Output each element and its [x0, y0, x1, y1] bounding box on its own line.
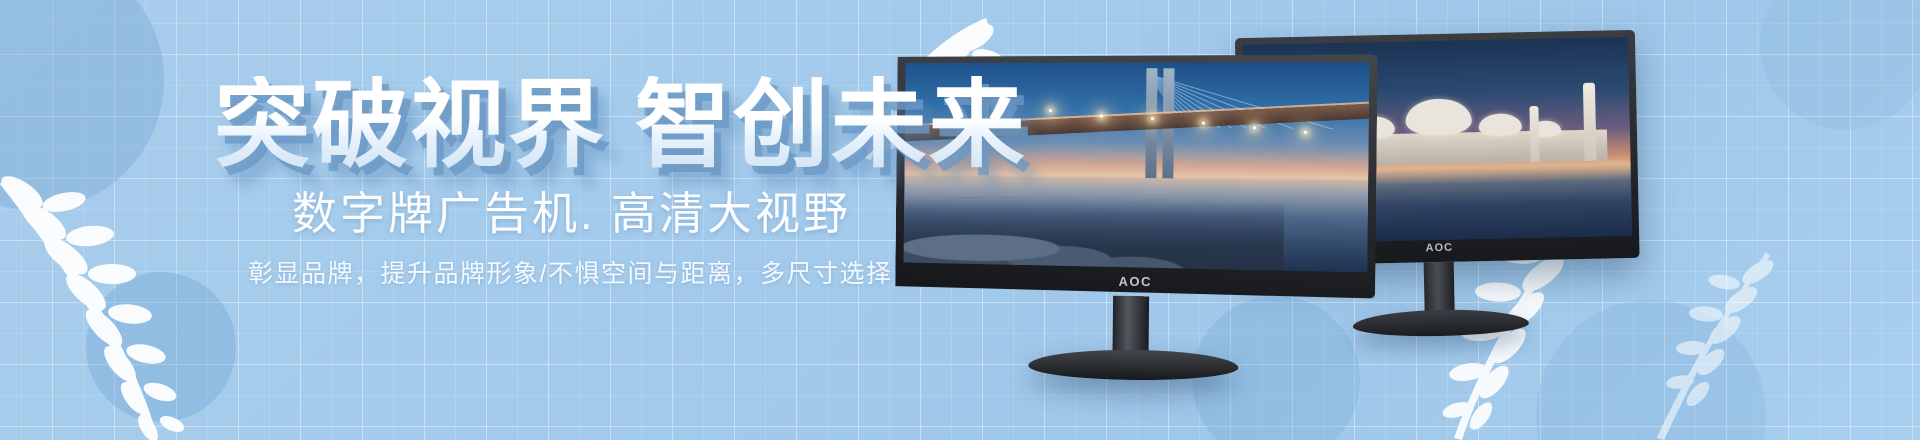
brand-logo-aoc-front: AOC: [1118, 274, 1152, 289]
screen-rocks: [903, 196, 1284, 272]
subtitle: 数字牌广告机. 高清大视野: [292, 188, 851, 240]
copy-block: 突破视界 智创未来 数字牌广告机. 高清大视野 彰显品牌，提升品牌形象/不惧空间…: [0, 0, 900, 440]
headline: 突破视界 智创未来: [214, 76, 1027, 176]
leaf-branch-icon: [1626, 250, 1776, 440]
promo-banner: AOC: [0, 0, 1920, 440]
monitor-stand-neck: [1113, 296, 1150, 354]
tagline: 彰显品牌，提升品牌形象/不惧空间与距离，多尺寸选择: [248, 258, 892, 290]
brand-logo-aoc-rear: AOC: [1425, 242, 1453, 255]
monitor-stand-neck: [1424, 262, 1455, 315]
